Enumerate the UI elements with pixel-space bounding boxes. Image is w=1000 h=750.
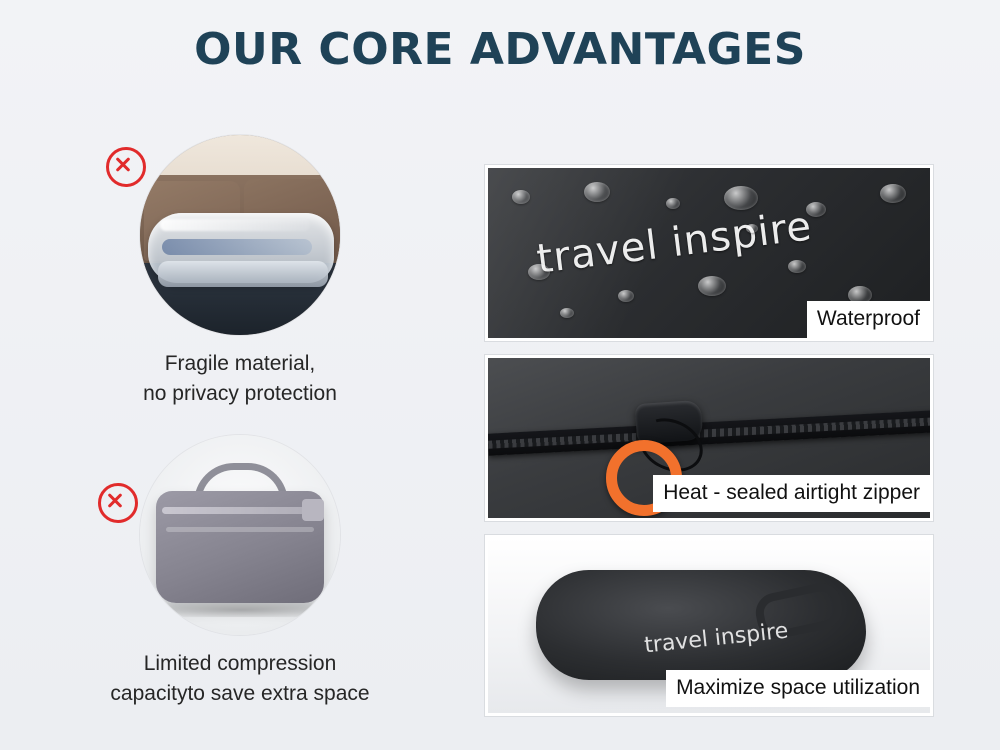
photo2-seam bbox=[166, 527, 314, 532]
zipper-teeth bbox=[488, 417, 933, 448]
water-drop-icon bbox=[880, 184, 906, 203]
water-drop-icon bbox=[584, 182, 610, 202]
red-x-badge-1 bbox=[106, 147, 146, 187]
photo2-zipper bbox=[162, 507, 318, 514]
water-drop-icon bbox=[560, 308, 574, 318]
left-column: Fragile material, no privacy protection bbox=[40, 135, 440, 709]
brand-logo-bag: travel inspire bbox=[643, 619, 789, 659]
packed-black-bag: travel inspire bbox=[536, 570, 866, 680]
label-airtight-zipper: Heat - sealed airtight zipper bbox=[653, 475, 930, 512]
photo1-plastic-bag-lower bbox=[158, 261, 328, 287]
water-drop-icon bbox=[746, 224, 758, 233]
panel-space-utilization: travel inspire Maximize space utilizatio… bbox=[485, 535, 933, 716]
circle-image-wrap-2 bbox=[140, 435, 340, 635]
water-drop-icon bbox=[788, 260, 806, 273]
water-drop-icon bbox=[724, 186, 758, 210]
zipper-track bbox=[488, 410, 933, 455]
panel-zipper: Heat - sealed airtight zipper bbox=[485, 355, 933, 521]
left-item-2: Limited compression capacityto save extr… bbox=[40, 435, 440, 709]
left-caption-2-line1: Limited compression bbox=[40, 649, 440, 679]
circle-image-wrap-1 bbox=[140, 135, 340, 335]
water-drop-icon bbox=[698, 276, 726, 296]
page-title: OUR CORE ADVANTAGES bbox=[0, 24, 1000, 75]
left-caption-1-line1: Fragile material, bbox=[40, 349, 440, 379]
water-drop-icon bbox=[666, 198, 680, 209]
label-waterproof: Waterproof bbox=[807, 301, 930, 338]
photo2-tab bbox=[302, 499, 324, 521]
photo-grey-toiletry-bag bbox=[140, 435, 340, 635]
left-caption-1: Fragile material, no privacy protection bbox=[40, 349, 440, 409]
water-drop-icon bbox=[806, 202, 826, 217]
panel-waterproof: travel inspire Waterproof bbox=[485, 165, 933, 341]
right-column: travel inspire Waterproof Heat - seal bbox=[485, 165, 933, 716]
advantages-page: OUR CORE ADVANTAGES Fragile material, bbox=[0, 0, 1000, 750]
water-drop-icon bbox=[528, 264, 550, 280]
water-drop-icon bbox=[618, 290, 634, 302]
red-x-badge-2 bbox=[98, 483, 138, 523]
photo-plastic-vacuum-bag bbox=[140, 135, 340, 335]
left-caption-2-line2: capacityto save extra space bbox=[40, 679, 440, 709]
water-drop-icon bbox=[512, 190, 530, 204]
photo2-shadow bbox=[160, 603, 322, 617]
left-item-1: Fragile material, no privacy protection bbox=[40, 135, 440, 409]
photo1-plastic-sheen bbox=[160, 219, 310, 231]
label-maximize-space: Maximize space utilization bbox=[666, 670, 930, 707]
left-caption-1-line2: no privacy protection bbox=[40, 379, 440, 409]
left-caption-2: Limited compression capacityto save extr… bbox=[40, 649, 440, 709]
